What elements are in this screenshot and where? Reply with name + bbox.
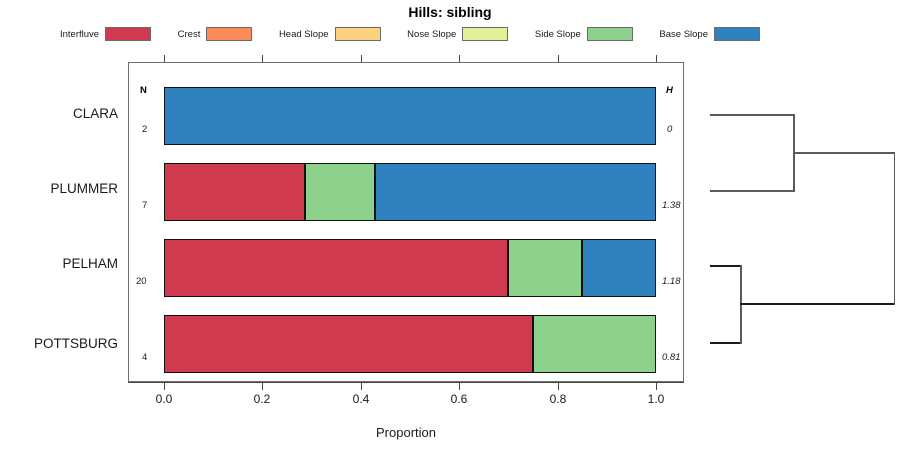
bar-row-pottsburg[interactable]	[164, 315, 656, 373]
row-n-clara: 2	[142, 124, 147, 135]
bar-segment-side-slope[interactable]	[305, 163, 375, 221]
top-tick	[656, 55, 657, 62]
top-tick	[459, 55, 460, 62]
row-h-plummer: 1.38	[662, 200, 681, 211]
row-label-clara: CLARA	[0, 106, 118, 121]
x-tick	[262, 383, 263, 390]
bar-row-pelham[interactable]	[164, 239, 656, 297]
legend-label: Base Slope	[659, 29, 708, 40]
bar-row-plummer[interactable]	[164, 163, 656, 221]
x-tick	[361, 383, 362, 390]
row-label-pelham: PELHAM	[0, 256, 118, 271]
legend-label: Side Slope	[535, 29, 581, 40]
bar-segment-interfluve[interactable]	[164, 239, 508, 297]
x-tick-label: 0.2	[242, 392, 282, 406]
legend-item-base-slope[interactable]: Base Slope	[659, 27, 760, 41]
bar-segment-side-slope[interactable]	[533, 315, 656, 373]
dendro-leaf-clara	[710, 114, 795, 116]
legend-swatch-icon	[335, 27, 381, 41]
dendro-root-join	[894, 152, 896, 305]
x-tick-label: 0.6	[439, 392, 479, 406]
x-tick-label: 0.4	[341, 392, 381, 406]
dendro-branch-upper	[793, 152, 895, 154]
row-label-pottsburg: POTTSBURG	[0, 336, 118, 351]
chart-root: Hills: sibling Interfluve Crest Head Slo…	[0, 0, 900, 460]
bar-segment-base-slope[interactable]	[164, 87, 656, 145]
legend-swatch-icon	[587, 27, 633, 41]
row-n-pottsburg: 4	[142, 352, 147, 363]
column-header-h: H	[666, 85, 673, 96]
page-title: Hills: sibling	[0, 4, 900, 20]
x-axis-title: Proportion	[128, 425, 684, 440]
legend-item-crest[interactable]: Crest	[178, 27, 253, 41]
x-tick	[164, 383, 165, 390]
top-tick	[164, 55, 165, 62]
x-tick	[558, 383, 559, 390]
dendro-branch-lower	[740, 303, 895, 305]
legend-swatch-icon	[105, 27, 151, 41]
bar-row-clara[interactable]	[164, 87, 656, 145]
dendro-leaf-plummer	[710, 190, 795, 192]
column-header-n: N	[140, 85, 147, 96]
x-tick-label: 0.8	[538, 392, 578, 406]
legend-swatch-icon	[462, 27, 508, 41]
x-tick	[459, 383, 460, 390]
legend-item-head-slope[interactable]: Head Slope	[279, 27, 381, 41]
legend-item-interfluve[interactable]: Interfluve	[60, 27, 151, 41]
row-h-pottsburg: 0.81	[662, 352, 681, 363]
legend-swatch-icon	[714, 27, 760, 41]
row-h-pelham: 1.18	[662, 276, 681, 287]
dendro-leaf-pottsburg	[710, 342, 742, 344]
dendrogram	[690, 62, 900, 382]
top-tick	[262, 55, 263, 62]
bar-segment-base-slope[interactable]	[375, 163, 656, 221]
bar-segment-side-slope[interactable]	[508, 239, 582, 297]
x-tick	[656, 383, 657, 390]
legend: Interfluve Crest Head Slope Nose Slope S…	[60, 25, 760, 43]
row-h-clara: 0	[667, 124, 672, 135]
row-n-pelham: 20	[136, 276, 147, 287]
dendro-leaf-pelham	[710, 265, 742, 267]
x-axis-line	[128, 382, 684, 383]
x-tick-label: 1.0	[636, 392, 676, 406]
legend-label: Interfluve	[60, 29, 99, 40]
legend-label: Nose Slope	[407, 29, 456, 40]
x-tick-label: 0.0	[144, 392, 184, 406]
bar-segment-interfluve[interactable]	[164, 315, 533, 373]
row-n-plummer: 7	[142, 200, 147, 211]
bar-segment-interfluve[interactable]	[164, 163, 305, 221]
legend-label: Head Slope	[279, 29, 329, 40]
legend-item-side-slope[interactable]: Side Slope	[535, 27, 633, 41]
legend-swatch-icon	[206, 27, 252, 41]
top-tick	[558, 55, 559, 62]
legend-label: Crest	[178, 29, 201, 40]
top-tick	[361, 55, 362, 62]
row-label-plummer: PLUMMER	[0, 181, 118, 196]
legend-item-nose-slope[interactable]: Nose Slope	[407, 27, 508, 41]
bar-segment-base-slope[interactable]	[582, 239, 656, 297]
